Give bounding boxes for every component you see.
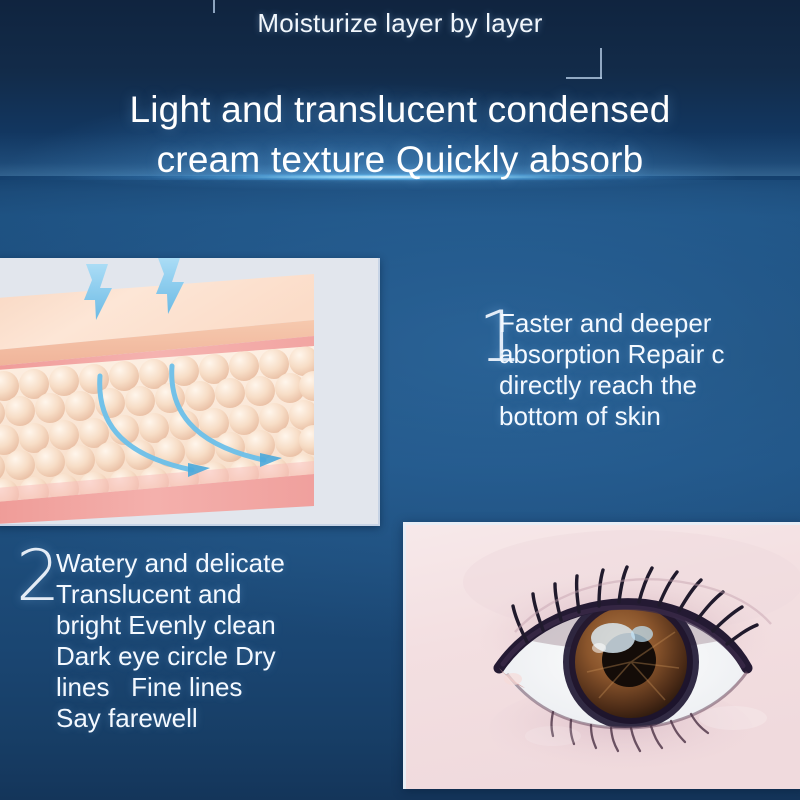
feature-number-2: 2: [16, 541, 61, 611]
feature-text-1: Faster and deeper absorption Repair c di…: [499, 308, 800, 432]
headline-line-2: cream texture Quickly absorb: [0, 135, 800, 185]
headline-line-1: Light and translucent condensed: [129, 89, 670, 130]
close-up-eye-icon: [403, 522, 800, 789]
skin-cross-section-icon: [0, 258, 378, 524]
headline: Light and translucent condensed cream te…: [0, 85, 800, 185]
advertisement-canvas: Moisturize layer by layer Light and tran…: [0, 0, 800, 800]
eye-photo-panel: [403, 522, 800, 789]
skin-diagram-panel: [0, 258, 380, 526]
feature-text-2: Watery and delicate Translucent and brig…: [56, 548, 416, 734]
bracket-horizontal-line: [566, 77, 602, 79]
bracket-vertical-line: [600, 48, 602, 79]
bracket-corner-bottom-right: [566, 48, 602, 79]
subtitle: Moisturize layer by layer: [0, 8, 800, 39]
